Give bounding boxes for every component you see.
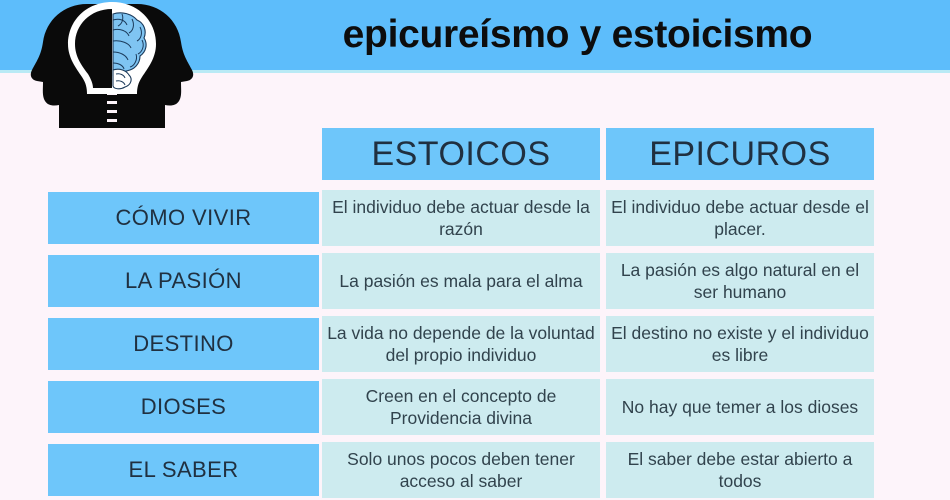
cell-epicuros-destino: El destino no existe y el individuo es l… xyxy=(606,316,874,372)
cell-epicuros-como-vivir: El individuo debe actuar desde el placer… xyxy=(606,190,874,246)
row-label-dioses: DIOSES xyxy=(48,381,319,433)
row-label-el-saber: EL SABER xyxy=(48,444,319,496)
cell-estoicos-el-saber: Solo unos pocos deben tener acceso al sa… xyxy=(322,442,600,498)
column-header-epicuros: EPICUROS xyxy=(606,128,874,180)
cell-estoicos-destino: La vida no depende de la voluntad del pr… xyxy=(322,316,600,372)
cell-estoicos-dioses: Creen en el concepto de Providencia divi… xyxy=(322,379,600,435)
row-label-destino: DESTINO xyxy=(48,318,319,370)
cell-epicuros-dioses: No hay que temer a los dioses xyxy=(606,379,874,435)
cell-epicuros-el-saber: El saber debe estar abierto a todos xyxy=(606,442,874,498)
row-label-la-pasion: LA PASIÓN xyxy=(48,255,319,307)
comparison-table: ESTOICOS EPICUROS CÓMO VIVIR El individu… xyxy=(0,0,950,500)
cell-estoicos-la-pasion: La pasión es mala para el alma xyxy=(322,253,600,309)
column-header-estoicos: ESTOICOS xyxy=(322,128,600,180)
cell-estoicos-como-vivir: El individuo debe actuar desde la razón xyxy=(322,190,600,246)
row-label-como-vivir: CÓMO VIVIR xyxy=(48,192,319,244)
cell-epicuros-la-pasion: La pasión es algo natural en el ser huma… xyxy=(606,253,874,309)
